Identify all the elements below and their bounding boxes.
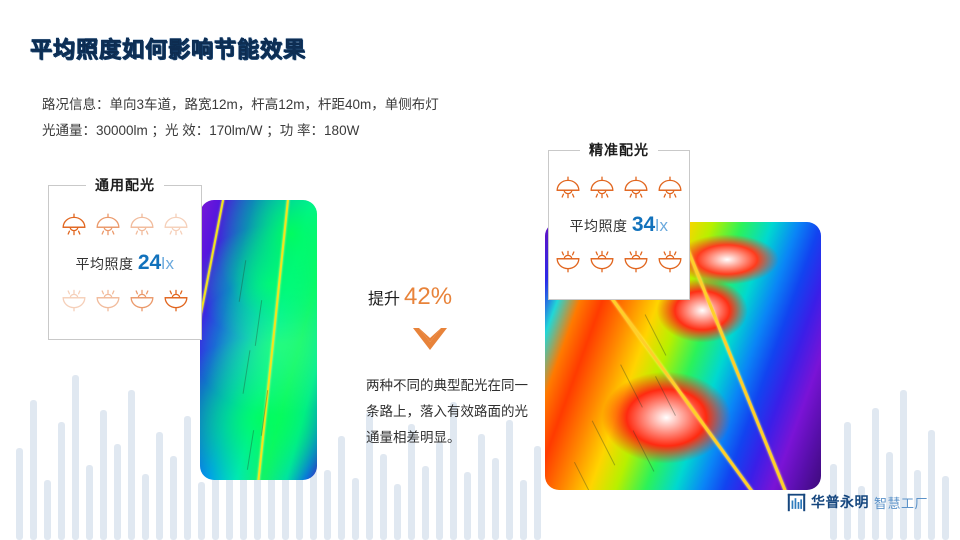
background-bar <box>928 430 935 540</box>
lamp-row-bottom-left <box>49 287 201 313</box>
background-bar <box>184 416 191 540</box>
background-bar <box>942 476 949 540</box>
background-bar <box>436 442 443 540</box>
average-illuminance-right: 平均照度 34lx <box>549 213 689 237</box>
brand-sub-name: 智慧工厂 <box>874 493 928 512</box>
ceiling-lamp-icon <box>553 248 583 274</box>
road-edge-line <box>200 200 226 480</box>
general-distribution-card-title: 通用配光 <box>86 175 164 195</box>
background-bar <box>464 472 471 540</box>
page-title: 平均照度如何影响节能效果 <box>30 32 306 64</box>
precision-distribution-card-title: 精准配光 <box>580 140 658 160</box>
ceiling-lamp-icon <box>621 248 651 274</box>
comparison-note: 两种不同的典型配光在同一条路上，落入有效路面的光通量相差明显。 <box>366 373 534 451</box>
background-bar <box>44 480 51 540</box>
background-bar <box>58 422 65 540</box>
improvement-label: 提升 <box>368 291 400 308</box>
road-marking <box>239 260 247 302</box>
background-bar <box>338 436 345 540</box>
lamp-row-top-left <box>49 212 201 238</box>
background-bar <box>72 375 79 540</box>
background-bar <box>114 444 121 540</box>
road-edge-line <box>256 200 291 480</box>
background-bar <box>170 456 177 540</box>
average-illuminance-unit-left: lx <box>161 254 174 273</box>
ceiling-lamp-icon <box>93 212 123 238</box>
average-illuminance-value-left: 24 <box>138 251 161 274</box>
background-bar <box>198 482 205 540</box>
road-spec-text: 路况信息：单向3车道，路宽12m，杆高12m，杆距40m，单侧布灯 光通量：30… <box>42 92 439 144</box>
ceiling-lamp-icon <box>621 175 651 201</box>
background-bar <box>394 484 401 540</box>
road-marking <box>255 300 262 346</box>
precision-distribution-card: 精准配光 平均照度 34lx <box>548 150 690 300</box>
improvement-callout: 提升42% <box>368 283 452 311</box>
ceiling-lamp-icon <box>553 175 583 201</box>
brand-name: 华普永明 <box>811 492 869 512</box>
road-marking <box>574 462 593 490</box>
ceiling-lamp-icon <box>655 248 685 274</box>
background-bar <box>30 400 37 540</box>
ceiling-lamp-icon <box>127 212 157 238</box>
background-bar <box>100 410 107 540</box>
road-marking <box>247 430 254 470</box>
background-bar <box>324 470 331 540</box>
road-spec-line-2: 光通量：30000lm ；光 效：170lm/W ；功 率：180W <box>42 118 439 144</box>
background-bar <box>142 474 149 540</box>
background-bar <box>534 446 541 540</box>
road-marking <box>620 364 643 407</box>
ceiling-lamp-icon <box>161 287 191 313</box>
background-bar <box>872 408 879 540</box>
background-bar <box>520 480 527 540</box>
background-bar <box>268 476 275 540</box>
ceiling-lamp-icon <box>161 212 191 238</box>
road-marking <box>592 420 616 465</box>
illuminance-heatmap-general <box>200 200 317 480</box>
brand-logo: 华普永明 智慧工厂 <box>787 492 928 512</box>
ceiling-lamp-icon <box>59 287 89 313</box>
background-bar <box>16 448 23 540</box>
general-distribution-card: 通用配光 平均照度 24lx <box>48 185 202 340</box>
chevron-down-icon <box>411 326 449 359</box>
background-bar <box>844 422 851 540</box>
background-bar <box>352 478 359 540</box>
average-illuminance-unit-right: lx <box>655 216 668 235</box>
road-spec-line-1: 路况信息：单向3车道，路宽12m，杆高12m，杆距40m，单侧布灯 <box>42 92 439 118</box>
slide-canvas: 平均照度如何影响节能效果 路况信息：单向3车道，路宽12m，杆高12m，杆距40… <box>0 0 960 540</box>
ceiling-lamp-icon <box>587 175 617 201</box>
background-bar <box>492 458 499 540</box>
road-marking <box>633 430 655 471</box>
background-bar <box>86 465 93 540</box>
improvement-value: 42% <box>404 283 452 310</box>
average-illuminance-label-right: 平均照度 <box>569 218 627 234</box>
ceiling-lamp-icon <box>59 212 89 238</box>
lamp-row-top-right <box>549 175 689 201</box>
average-illuminance-value-right: 34 <box>632 213 655 236</box>
ceiling-lamp-icon <box>127 287 157 313</box>
ceiling-lamp-icon <box>93 287 123 313</box>
background-bar <box>422 466 429 540</box>
ceiling-lamp-icon <box>655 175 685 201</box>
average-illuminance-label-left: 平均照度 <box>75 256 133 272</box>
average-illuminance-left: 平均照度 24lx <box>49 251 201 275</box>
background-bar <box>156 432 163 540</box>
background-bar <box>380 454 387 540</box>
ceiling-lamp-icon <box>587 248 617 274</box>
huapu-brand-mark-icon <box>787 493 806 512</box>
road-marking <box>243 350 251 394</box>
lamp-row-bottom-right <box>549 248 689 274</box>
background-bar <box>128 390 135 540</box>
background-bar <box>900 390 907 540</box>
